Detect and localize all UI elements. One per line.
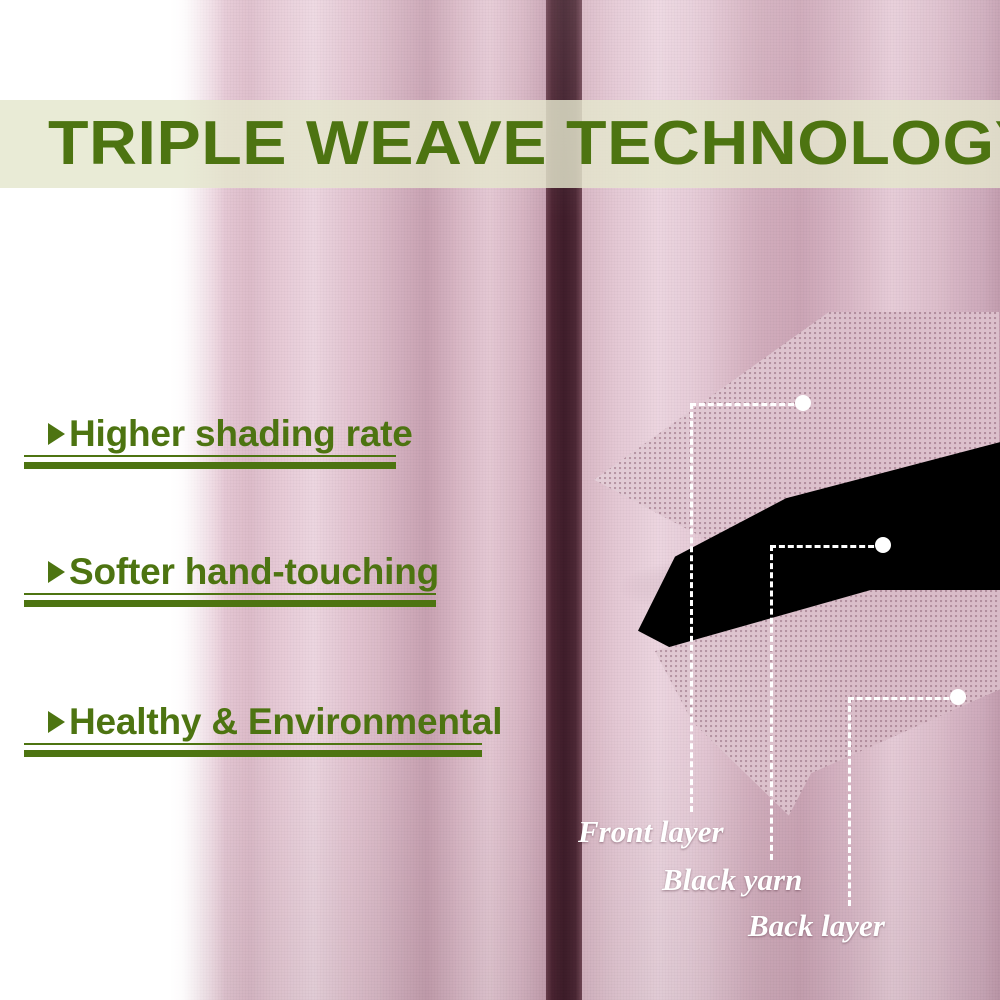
back-layer-leader-vertical	[848, 697, 851, 906]
underline-thin	[24, 743, 482, 745]
black-yarn-leader-horizontal	[770, 545, 883, 548]
feature-underline-softer-hand-touching	[24, 593, 436, 607]
page-title: TRIPLE WEAVE TECHNOLOGY	[48, 102, 1000, 186]
fabric-layer-diagram	[580, 290, 1000, 820]
feature-label: Softer hand-touching	[69, 550, 439, 594]
underline-thick	[24, 462, 396, 469]
front-layer-leader-horizontal	[690, 403, 803, 406]
black-yarn-leader-vertical	[770, 545, 773, 860]
underline-thin	[24, 593, 436, 595]
product-feature-image: Front layer Black yarn Back layer TRIPLE…	[0, 0, 1000, 1000]
triangle-bullet-icon	[48, 561, 65, 583]
underline-thin	[24, 455, 396, 457]
triangle-bullet-icon	[48, 423, 65, 445]
callout-label-back-layer: Back layer	[748, 908, 885, 944]
front-layer-leader-vertical	[690, 403, 693, 812]
callout-label-black-yarn: Black yarn	[662, 862, 802, 898]
callout-label-front-layer: Front layer	[578, 814, 724, 850]
feature-item-healthy-environmental: Healthy & Environmental	[48, 700, 502, 744]
back-layer-leader-horizontal	[848, 697, 958, 700]
feature-label: Higher shading rate	[69, 412, 413, 456]
triangle-bullet-icon	[48, 711, 65, 733]
feature-underline-higher-shading-rate	[24, 455, 396, 469]
feature-underline-healthy-environmental	[24, 743, 482, 757]
underline-thick	[24, 750, 482, 757]
feature-item-softer-hand-touching: Softer hand-touching	[48, 550, 439, 594]
feature-label: Healthy & Environmental	[69, 700, 502, 744]
feature-item-higher-shading-rate: Higher shading rate	[48, 412, 413, 456]
underline-thick	[24, 600, 436, 607]
